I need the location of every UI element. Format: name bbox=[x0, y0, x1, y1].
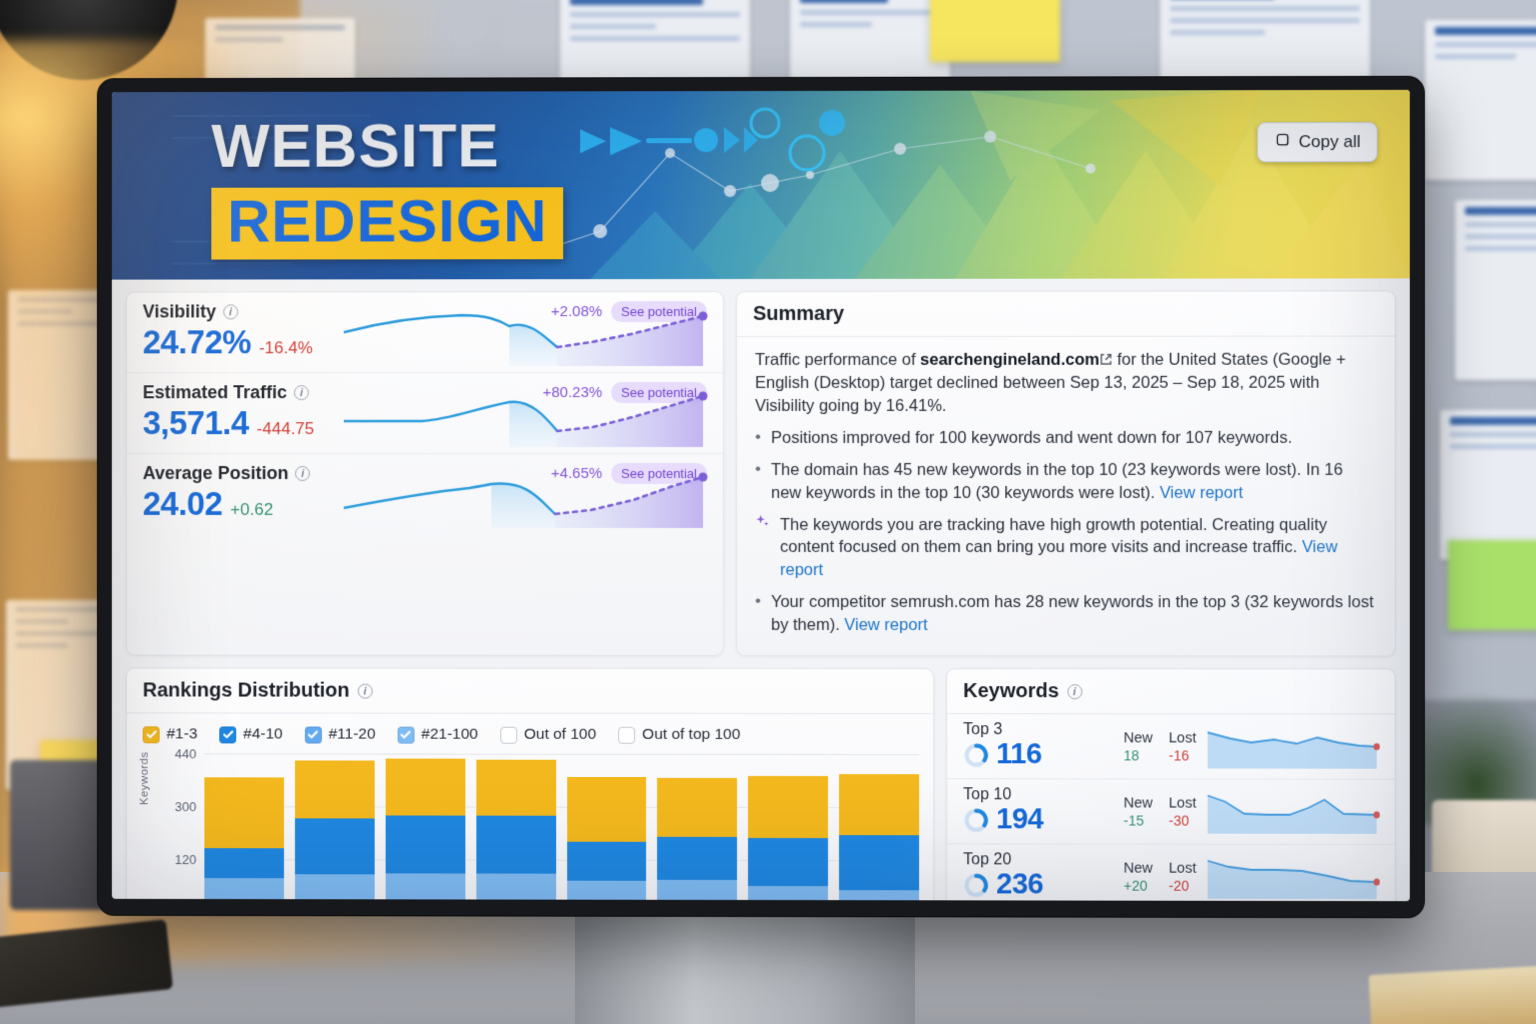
legend-label: #1-3 bbox=[167, 726, 198, 744]
lost-header: Lost bbox=[1169, 730, 1197, 746]
top-row: Visibility i +2.08% See potential 24.72%… bbox=[126, 290, 1396, 656]
keywords-new-block: New +20 bbox=[1124, 860, 1153, 893]
keywords-lost-block: Lost -20 bbox=[1169, 861, 1197, 894]
rankings-legend: #1-3 #4-10 #11-20 bbox=[127, 714, 933, 751]
checkbox-checked-icon[interactable] bbox=[305, 726, 322, 743]
info-icon[interactable]: i bbox=[223, 304, 238, 319]
legend-item-11-20[interactable]: #11-20 bbox=[305, 726, 376, 744]
metric-estimated-traffic-delta: -444.75 bbox=[257, 419, 314, 439]
metric-visibility-sparkline bbox=[342, 310, 711, 366]
keywords-row-label: Top 20 bbox=[963, 852, 1113, 870]
keywords-lost-value: -20 bbox=[1169, 878, 1197, 894]
chart-bar-segment-1-3 bbox=[657, 778, 737, 838]
screen: WEBSITE REDESIGN Copy all bbox=[112, 90, 1410, 901]
hero-title-highlight: REDESIGN bbox=[211, 187, 563, 259]
lost-header: Lost bbox=[1169, 861, 1197, 877]
chart-bar[interactable] bbox=[385, 758, 465, 901]
summary-card: Summary Traffic performance of searcheng… bbox=[736, 290, 1396, 656]
metric-average-position-sparkline bbox=[342, 472, 711, 528]
metric-visibility-label: Visibility bbox=[143, 301, 216, 322]
keywords-header: Keywords i bbox=[947, 670, 1395, 715]
checkbox-unchecked-icon[interactable] bbox=[618, 727, 635, 744]
keywords-row-label: Top 3 bbox=[963, 722, 1113, 740]
chart-bar-segment-4-10 bbox=[839, 835, 919, 891]
keywords-lost-block: Lost -16 bbox=[1169, 730, 1197, 763]
chart-bar-segment-11-20 bbox=[839, 891, 919, 902]
keywords-new-value: -15 bbox=[1124, 812, 1153, 828]
chart-bar-segment-4-10 bbox=[476, 816, 556, 873]
info-icon[interactable]: i bbox=[1067, 685, 1082, 700]
chart-bar-segment-11-20 bbox=[385, 873, 465, 901]
summary-header: Summary bbox=[737, 291, 1395, 337]
checkbox-checked-icon[interactable] bbox=[143, 726, 160, 743]
legend-item-1-3[interactable]: #1-3 bbox=[143, 726, 198, 744]
hero-title: WEBSITE REDESIGN bbox=[211, 115, 563, 259]
wall-paper bbox=[1455, 200, 1536, 380]
chart-bar[interactable] bbox=[476, 760, 556, 901]
bullet-dot-icon: • bbox=[755, 459, 761, 505]
copy-all-button[interactable]: Copy all bbox=[1257, 122, 1378, 162]
summary-body: Traffic performance of searchengineland.… bbox=[737, 337, 1395, 656]
info-icon[interactable]: i bbox=[358, 684, 373, 699]
chart-bar[interactable] bbox=[295, 761, 375, 902]
chart-bar-segment-1-3 bbox=[567, 777, 647, 842]
chart-bar-segment-4-10 bbox=[567, 841, 647, 880]
summary-bullet: • Your competitor semrush.com has 28 new… bbox=[755, 591, 1377, 637]
chart-bar-segment-11-20 bbox=[567, 881, 647, 901]
keywords-lost-value: -30 bbox=[1169, 812, 1197, 828]
dashboard-content: Visibility i +2.08% See potential 24.72%… bbox=[112, 278, 1410, 901]
chart-bar-segment-1-3 bbox=[204, 778, 284, 848]
keywords-row-top-20[interactable]: Top 20 236 New +20 bbox=[947, 844, 1395, 901]
keywords-new-value: +20 bbox=[1124, 878, 1153, 894]
wall-paper bbox=[1440, 410, 1536, 560]
rankings-title: Rankings Distribution bbox=[143, 680, 350, 703]
metric-estimated-traffic-value: 3,571.4 bbox=[143, 404, 249, 442]
keywords-card: Keywords i Top 3 116 bbox=[946, 669, 1396, 902]
info-icon[interactable]: i bbox=[294, 385, 309, 400]
keywords-sparkline-top-10 bbox=[1206, 790, 1380, 834]
summary-bullet: The keywords you are tracking have high … bbox=[755, 514, 1377, 583]
chart-bar-segment-4-10 bbox=[657, 837, 737, 880]
keywords-lost-block: Lost -30 bbox=[1169, 795, 1197, 828]
legend-item-4-10[interactable]: #4-10 bbox=[219, 726, 282, 744]
lost-header: Lost bbox=[1169, 795, 1197, 811]
chart-bar-segment-4-10 bbox=[204, 848, 284, 879]
copy-icon bbox=[1274, 131, 1291, 153]
new-header: New bbox=[1124, 730, 1153, 746]
metric-average-position-value: 24.02 bbox=[143, 485, 223, 523]
summary-intro: Traffic performance of searchengineland.… bbox=[755, 349, 1377, 418]
view-report-link[interactable]: View report bbox=[844, 616, 927, 634]
donut-icon bbox=[963, 872, 989, 898]
legend-label: Out of 100 bbox=[524, 726, 596, 744]
bullet-dot-icon: • bbox=[755, 591, 761, 637]
keywords-row-top-3[interactable]: Top 3 116 New 18 bbox=[947, 715, 1395, 780]
hero-title-line1: WEBSITE bbox=[211, 115, 563, 177]
legend-label: #4-10 bbox=[243, 726, 282, 744]
legend-label: #11-20 bbox=[329, 726, 376, 744]
chart-y-axis-label: Keywords bbox=[139, 752, 151, 806]
metric-visibility-value: 24.72% bbox=[143, 323, 251, 361]
metric-visibility-delta: -16.4% bbox=[259, 338, 313, 358]
bottom-row: Rankings Distribution i #1-3 bbox=[126, 668, 1396, 901]
rankings-header: Rankings Distribution i bbox=[127, 669, 933, 715]
chart-bar-segment-1-3 bbox=[839, 774, 919, 835]
sparkle-icon bbox=[755, 514, 770, 582]
chart-bar[interactable] bbox=[567, 777, 647, 901]
hero-title-line2: REDESIGN bbox=[227, 191, 547, 251]
rankings-distribution-card: Rankings Distribution i #1-3 bbox=[126, 668, 934, 901]
metric-estimated-traffic-label: Estimated Traffic bbox=[143, 382, 287, 403]
new-header: New bbox=[1124, 795, 1153, 811]
summary-domain[interactable]: searchengineland.com bbox=[920, 351, 1099, 369]
keywords-row-count: 116 bbox=[996, 739, 1041, 772]
sticky-note bbox=[930, 0, 1060, 62]
chart-bar[interactable] bbox=[204, 778, 284, 901]
chart-bar-segment-11-20 bbox=[204, 878, 284, 901]
hero-banner: WEBSITE REDESIGN Copy all bbox=[112, 90, 1410, 280]
keywords-title: Keywords bbox=[963, 681, 1059, 704]
metrics-card: Visibility i +2.08% See potential 24.72%… bbox=[126, 291, 724, 656]
wall-paper bbox=[1425, 20, 1536, 180]
chart-bar-segment-1-3 bbox=[295, 761, 375, 819]
chart-bar-segment-11-20 bbox=[748, 886, 828, 901]
metric-estimated-traffic-sparkline bbox=[342, 391, 711, 447]
bullet-dot-icon: • bbox=[755, 427, 761, 450]
metric-average-position-delta: +0.62 bbox=[230, 500, 273, 520]
summary-bullet-text: Positions improved for 100 keywords and … bbox=[771, 429, 1292, 447]
keywords-row-count: 194 bbox=[996, 804, 1043, 837]
summary-bullet-list: • Positions improved for 100 keywords an… bbox=[755, 427, 1377, 637]
view-report-link[interactable]: View report bbox=[1160, 484, 1243, 502]
y-tick-label: 300 bbox=[175, 799, 197, 814]
chart-bar[interactable] bbox=[748, 776, 828, 901]
summary-title: Summary bbox=[753, 303, 844, 326]
legend-label: Out of top 100 bbox=[642, 726, 740, 744]
summary-bullet-text: The domain has 45 new keywords in the to… bbox=[771, 461, 1343, 502]
keywords-sparkline-top-20 bbox=[1206, 855, 1380, 899]
keywords-new-block: New 18 bbox=[1124, 730, 1153, 763]
chart-bar-segment-4-10 bbox=[748, 838, 828, 885]
checkbox-checked-icon[interactable] bbox=[397, 727, 414, 744]
chart-bar[interactable] bbox=[839, 774, 919, 901]
chart-bar[interactable] bbox=[657, 778, 737, 901]
summary-bullet-text: The keywords you are tracking have high … bbox=[780, 516, 1327, 557]
keywords-lost-value: -16 bbox=[1169, 747, 1197, 763]
chart-y-axis: 440 300 120 0 bbox=[159, 754, 203, 901]
legend-item-21-100[interactable]: #21-100 bbox=[397, 726, 478, 744]
keywords-row-count: 236 bbox=[996, 869, 1043, 901]
chart-bar-segment-4-10 bbox=[295, 819, 375, 875]
chart-bars bbox=[204, 754, 919, 901]
chart-bar-segment-11-20 bbox=[295, 874, 375, 901]
summary-intro-pre: Traffic performance of bbox=[755, 351, 920, 369]
checkbox-unchecked-icon[interactable] bbox=[500, 727, 517, 744]
external-link-icon[interactable] bbox=[1099, 350, 1112, 363]
legend-label: #21-100 bbox=[421, 726, 478, 744]
summary-bullet: • Positions improved for 100 keywords an… bbox=[755, 427, 1377, 450]
chart-bar-segment-4-10 bbox=[385, 815, 465, 873]
sticky-note bbox=[1448, 540, 1536, 630]
y-tick-label: 440 bbox=[175, 746, 197, 761]
monitor: WEBSITE REDESIGN Copy all bbox=[98, 77, 1424, 917]
metric-estimated-traffic: Estimated Traffic i +80.23% See potentia… bbox=[127, 372, 723, 453]
monitor-stand-neck bbox=[575, 905, 915, 1024]
legend-item-out-of-top-100[interactable]: Out of top 100 bbox=[618, 726, 740, 744]
chart-bar-segment-11-20 bbox=[476, 873, 556, 901]
legend-item-out-of-100[interactable]: Out of 100 bbox=[500, 726, 596, 744]
metric-average-position: Average Position i +4.65% See potential … bbox=[127, 453, 723, 534]
metric-visibility: Visibility i +2.08% See potential 24.72%… bbox=[127, 292, 723, 372]
new-header: New bbox=[1124, 860, 1153, 876]
keywords-row-top-10[interactable]: Top 10 194 New -15 bbox=[947, 779, 1395, 845]
pencil-cup bbox=[10, 760, 106, 910]
keywords-row-label: Top 10 bbox=[963, 787, 1113, 805]
keywords-sparkline-top-3 bbox=[1206, 725, 1380, 769]
rankings-bar-chart: Keywords 440 300 120 0 Sep 12Sep 13 bbox=[141, 754, 923, 901]
metric-average-position-label: Average Position bbox=[143, 463, 289, 484]
donut-icon bbox=[963, 742, 989, 768]
keywords-new-value: 18 bbox=[1124, 747, 1153, 763]
copy-all-label: Copy all bbox=[1299, 132, 1361, 152]
chart-bar-segment-1-3 bbox=[748, 776, 828, 839]
chart-bar-segment-11-20 bbox=[657, 880, 737, 901]
notebook-stack bbox=[1369, 965, 1536, 1024]
checkbox-checked-icon[interactable] bbox=[219, 726, 236, 743]
summary-bullet: • The domain has 45 new keywords in the … bbox=[755, 459, 1377, 505]
chart-bar-segment-1-3 bbox=[476, 760, 556, 816]
info-icon[interactable]: i bbox=[295, 466, 310, 481]
y-tick-label: 120 bbox=[175, 852, 197, 867]
keywords-new-block: New -15 bbox=[1124, 795, 1153, 828]
donut-icon bbox=[963, 807, 989, 833]
chart-bar-segment-1-3 bbox=[385, 758, 465, 815]
